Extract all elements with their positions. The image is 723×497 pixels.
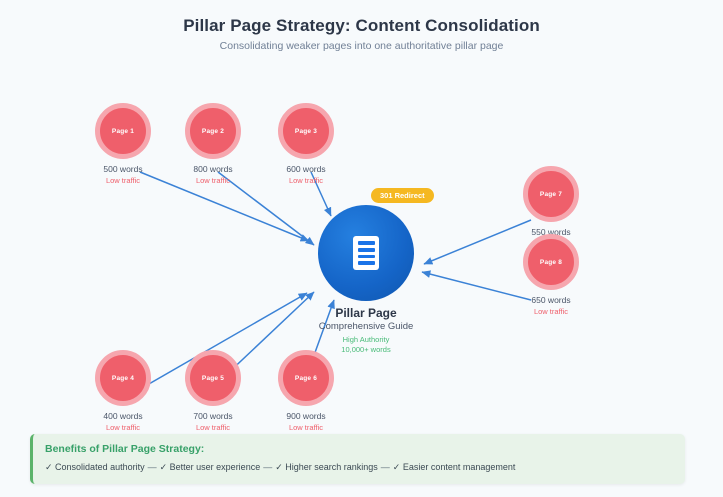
weak-page-circle[interactable]: Page 3 [278,103,334,159]
weak-page-label: Page 7 [540,191,562,198]
weak-page-node[interactable]: Page 6900 wordsLow traffic [258,350,354,432]
weak-page-traffic: Low traffic [165,176,261,185]
weak-page-circle[interactable]: Page 5 [185,350,241,406]
weak-page-circle[interactable]: Page 4 [95,350,151,406]
weak-page-traffic: Low traffic [258,423,354,432]
weak-page-word-count: 400 words [75,411,171,421]
weak-page-node[interactable]: Page 8650 wordsLow traffic [503,234,599,316]
benefits-separator: — [145,462,160,472]
benefits-separator: — [378,462,393,472]
weak-page-word-count: 800 words [165,164,261,174]
weak-page-circle[interactable]: Page 7 [523,166,579,222]
weak-page-node[interactable]: Page 2800 wordsLow traffic [165,103,261,185]
benefits-panel: Benefits of Pillar Page Strategy: ✓ Cons… [30,434,685,484]
weak-page-traffic: Low traffic [258,176,354,185]
weak-page-word-count: 600 words [258,164,354,174]
weak-page-label: Page 3 [295,128,317,135]
benefit-item: ✓ Consolidated authority [45,462,145,472]
weak-page-word-count: 700 words [165,411,261,421]
page-subtitle: Consolidating weaker pages into one auth… [0,40,723,52]
weak-page-word-count: 500 words [75,164,171,174]
benefit-item: ✓ Higher search rankings [275,462,378,472]
weak-page-node[interactable]: Page 1500 wordsLow traffic [75,103,171,185]
weak-page-label: Page 8 [540,259,562,266]
benefits-separator: — [260,462,275,472]
weak-page-node[interactable]: Page 3600 wordsLow traffic [258,103,354,185]
weak-page-traffic: Low traffic [165,423,261,432]
weak-page-label: Page 4 [112,375,134,382]
weak-page-label: Page 5 [202,375,224,382]
benefits-title: Benefits of Pillar Page Strategy: [45,443,673,455]
pillar-word-count: 10,000+ words [286,345,446,354]
weak-page-circle[interactable]: Page 2 [185,103,241,159]
weak-page-circle[interactable]: Page 6 [278,350,334,406]
benefits-list: ✓ Consolidated authority—✓ Better user e… [45,462,673,473]
pillar-circle[interactable] [318,205,414,301]
weak-page-traffic: Low traffic [503,307,599,316]
pillar-subtitle: Comprehensive Guide [276,321,456,332]
weak-page-label: Page 2 [202,128,224,135]
diagram-canvas: Pillar Page Strategy: Content Consolidat… [0,0,723,497]
redirect-badge: 301 Redirect [371,188,434,203]
pillar-name: Pillar Page [286,306,446,320]
weak-page-word-count: 900 words [258,411,354,421]
weak-page-node[interactable]: Page 4400 wordsLow traffic [75,350,171,432]
weak-page-circle[interactable]: Page 8 [523,234,579,290]
document-icon [353,236,379,270]
weak-page-label: Page 6 [295,375,317,382]
weak-page-node[interactable]: Page 5700 wordsLow traffic [165,350,261,432]
weak-page-traffic: Low traffic [75,423,171,432]
weak-page-word-count: 650 words [503,295,599,305]
pillar-authority: High Authority [286,335,446,344]
benefit-item: ✓ Easier content management [393,462,516,472]
weak-page-circle[interactable]: Page 1 [95,103,151,159]
benefit-item: ✓ Better user experience [160,462,261,472]
weak-page-label: Page 1 [112,128,134,135]
page-title: Pillar Page Strategy: Content Consolidat… [0,16,723,36]
weak-page-traffic: Low traffic [75,176,171,185]
